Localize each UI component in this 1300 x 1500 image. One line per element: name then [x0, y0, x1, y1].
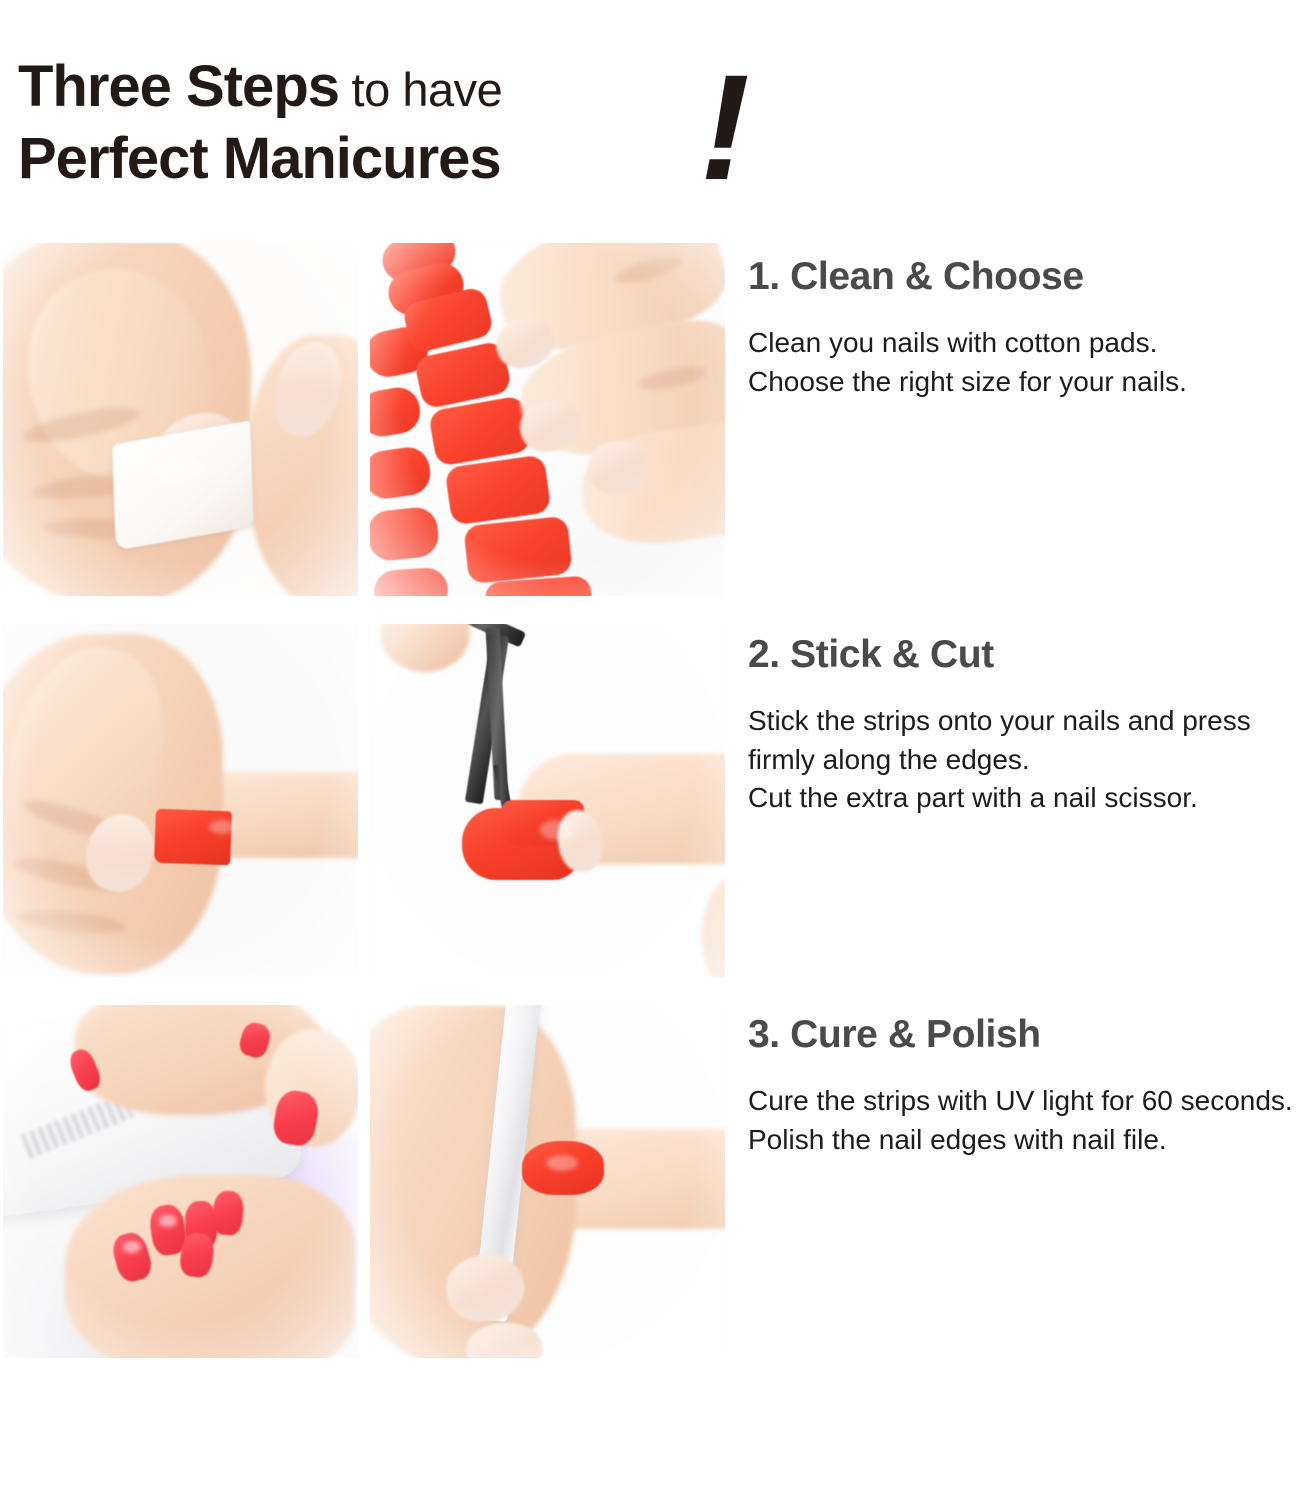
step-2-heading: 2. Stick & Cut [748, 635, 1296, 676]
title-perfect-manicures: Perfect Manicures [18, 126, 501, 191]
photo-cure-nails-under-uv-lamp [3, 1005, 358, 1358]
page-title: Three Steps to have Perfect Manicures [18, 58, 778, 218]
step-3-body: Cure the strips with UV light for 60 sec… [748, 1082, 1296, 1159]
photo-cut-strip-with-scissors [370, 624, 725, 977]
step-3-heading: 3. Cure & Polish [748, 1015, 1296, 1056]
photo-polish-nail-edge-with-file [370, 1005, 725, 1358]
photo-clean-nail-with-cotton-pad [3, 243, 358, 596]
title-three-steps: Three Steps [18, 54, 339, 119]
title-line-two: Perfect Manicures [18, 130, 501, 188]
step-1-heading: 1. Clean & Choose [748, 257, 1296, 298]
photo-stick-strip-on-nail [3, 624, 358, 977]
step-1-body: Clean you nails with cotton pads. Choose… [748, 324, 1296, 401]
photo-grid [3, 243, 731, 1358]
photo-red-nail-strip-sheet [370, 243, 725, 596]
step-2: 2. Stick & Cut Stick the strips onto you… [748, 635, 1296, 818]
title-line-one: Three Steps to have [18, 58, 502, 116]
exclamation-mark-icon: ! [700, 52, 750, 202]
step-2-body: Stick the strips onto your nails and pre… [748, 702, 1296, 818]
title-to-have: to have [339, 63, 502, 116]
step-1: 1. Clean & Choose Clean you nails with c… [748, 257, 1296, 401]
step-3: 3. Cure & Polish Cure the strips with UV… [748, 1015, 1296, 1159]
